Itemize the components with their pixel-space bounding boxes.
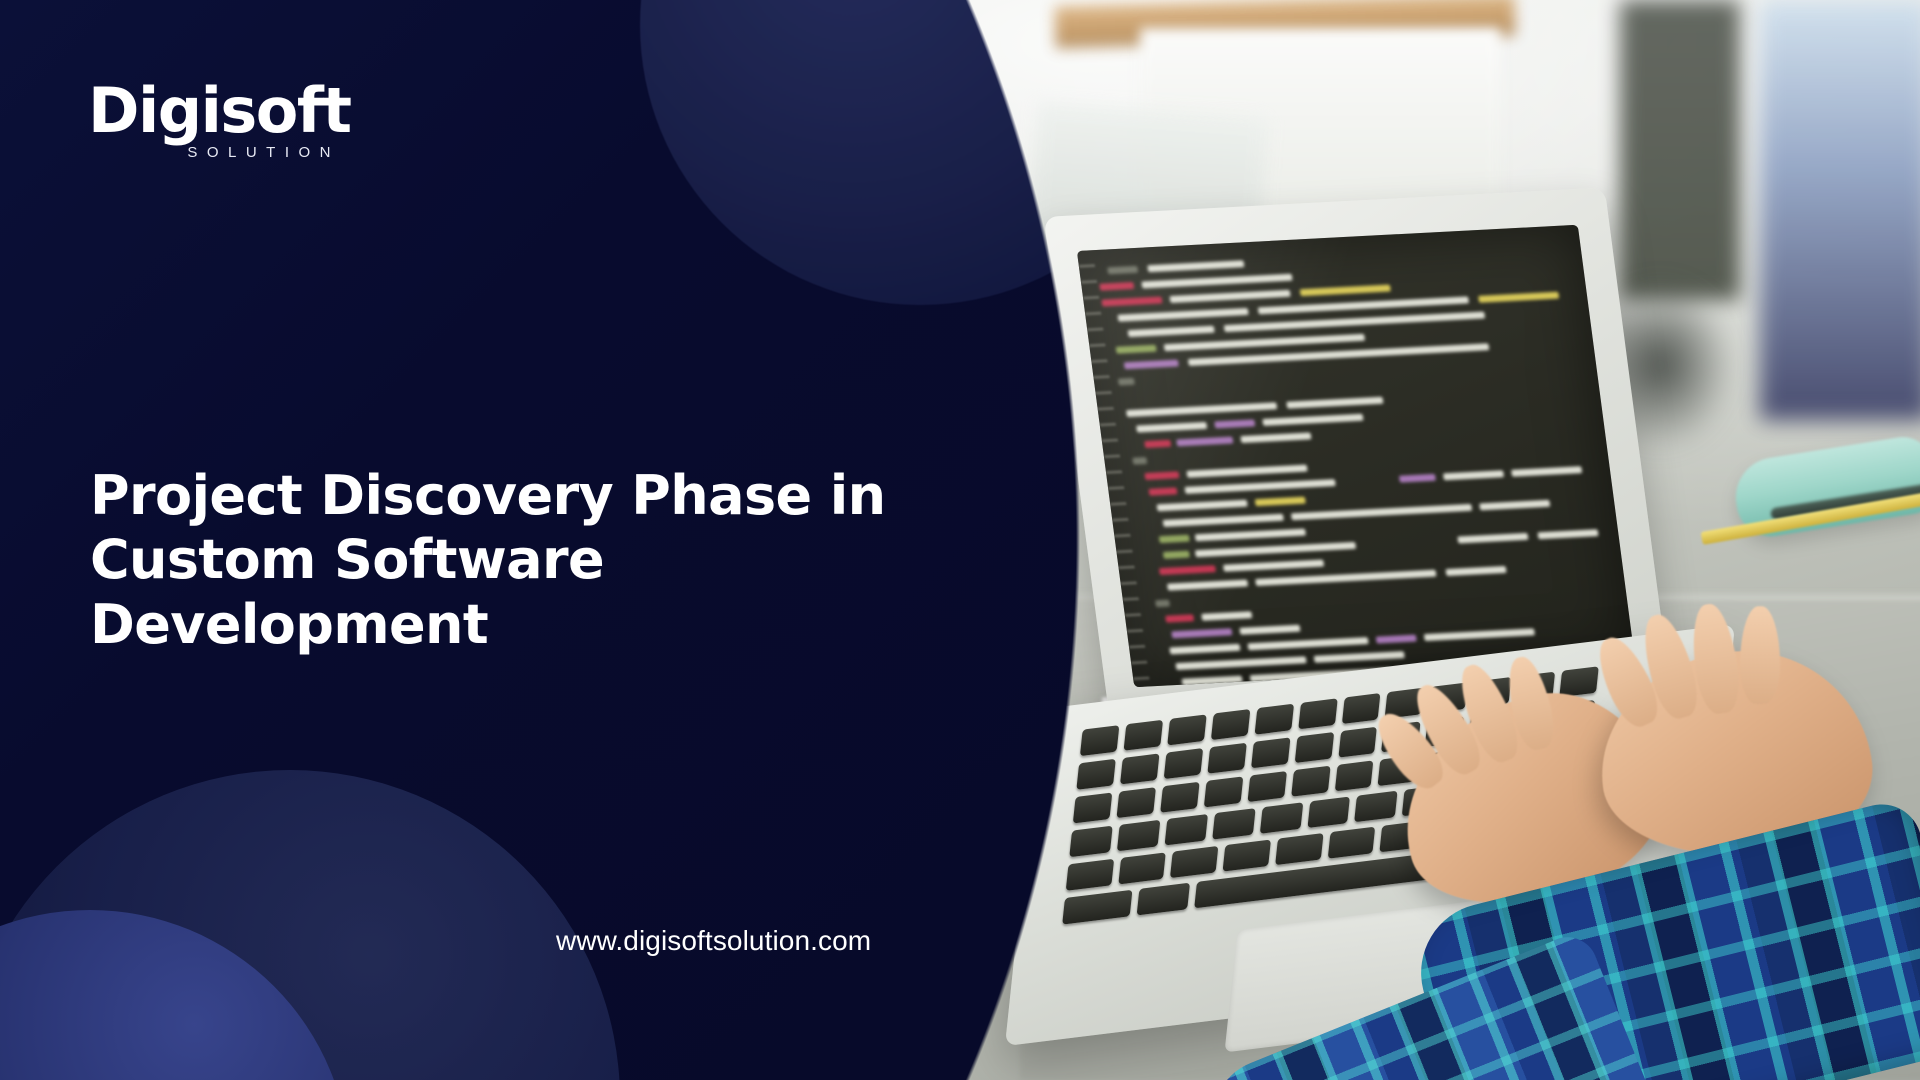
- website-url[interactable]: www.digisoftsolution.com: [556, 925, 871, 957]
- brand-logo[interactable]: Digisoft SOLUTION: [88, 80, 388, 161]
- page-title-line-1: Project Discovery Phase in: [90, 464, 885, 527]
- page-title-line-2: Custom Software Development: [90, 528, 970, 657]
- page-title: Project Discovery Phase in Custom Softwa…: [90, 464, 970, 657]
- promo-banner: Digisoft SOLUTION Project Discovery Phas…: [0, 0, 1920, 1080]
- banner-content: Digisoft SOLUTION Project Discovery Phas…: [0, 0, 1920, 1080]
- brand-logo-wordmark: Digisoft: [88, 80, 388, 142]
